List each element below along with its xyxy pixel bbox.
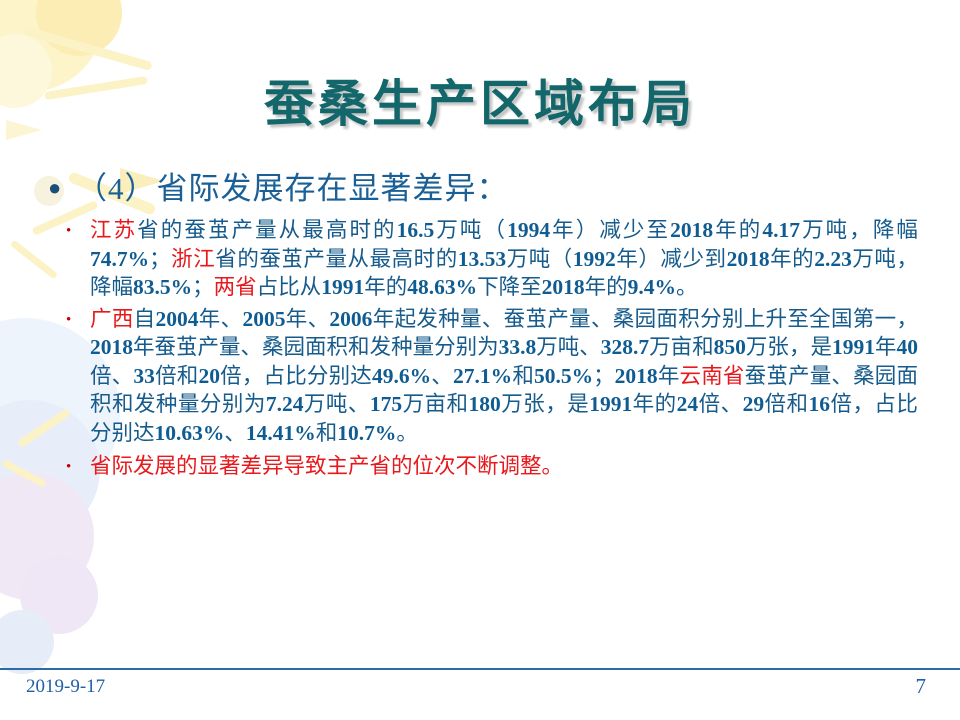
footer-date: 2019-9-17 [26,676,105,698]
decor-circle-purple-1 [0,472,94,600]
list-item: • 广西自2004年、2005年、2006年起发种量、蚕茧产量、桑园面积分别上升… [0,305,960,448]
slide-title: 蚕桑生产区域布局 [0,64,960,136]
slide-content: ● （4）省际发展存在显著差异： • 江苏省的蚕茧产量从最高时的16.5万吨（1… [0,168,960,485]
footer-page-number: 7 [916,674,927,699]
decor-circle-purple-2 [20,556,98,634]
decor-circle-blue-3 [0,610,54,674]
bullet-icon: • [66,216,90,246]
list-item: • 省际发展的显著差异导致主产省的位次不断调整。 [0,452,960,482]
bullet-icon: • [66,452,90,482]
footer-divider [0,668,960,670]
decor-circle-yellow-2 [36,0,122,56]
list-item-text: 广西自2004年、2005年、2006年起发种量、蚕茧产量、桑园面积分别上升至全… [90,305,918,448]
heading-row: ● （4）省际发展存在显著差异： [0,168,960,210]
bullet-icon: • [66,305,90,335]
heading-text: （4）省际发展存在显著差异： [76,168,509,210]
slide-footer: 2019-9-17 7 [0,668,960,720]
list-item-text: 江苏省的蚕茧产量从最高时的16.5万吨（1994年）减少至2018年的4.17万… [90,216,918,302]
list-item-text: 省际发展的显著差异导致主产省的位次不断调整。 [90,452,563,481]
heading-bullet-icon: ● [48,168,76,208]
list-item: • 江苏省的蚕茧产量从最高时的16.5万吨（1994年）减少至2018年的4.1… [0,216,960,302]
